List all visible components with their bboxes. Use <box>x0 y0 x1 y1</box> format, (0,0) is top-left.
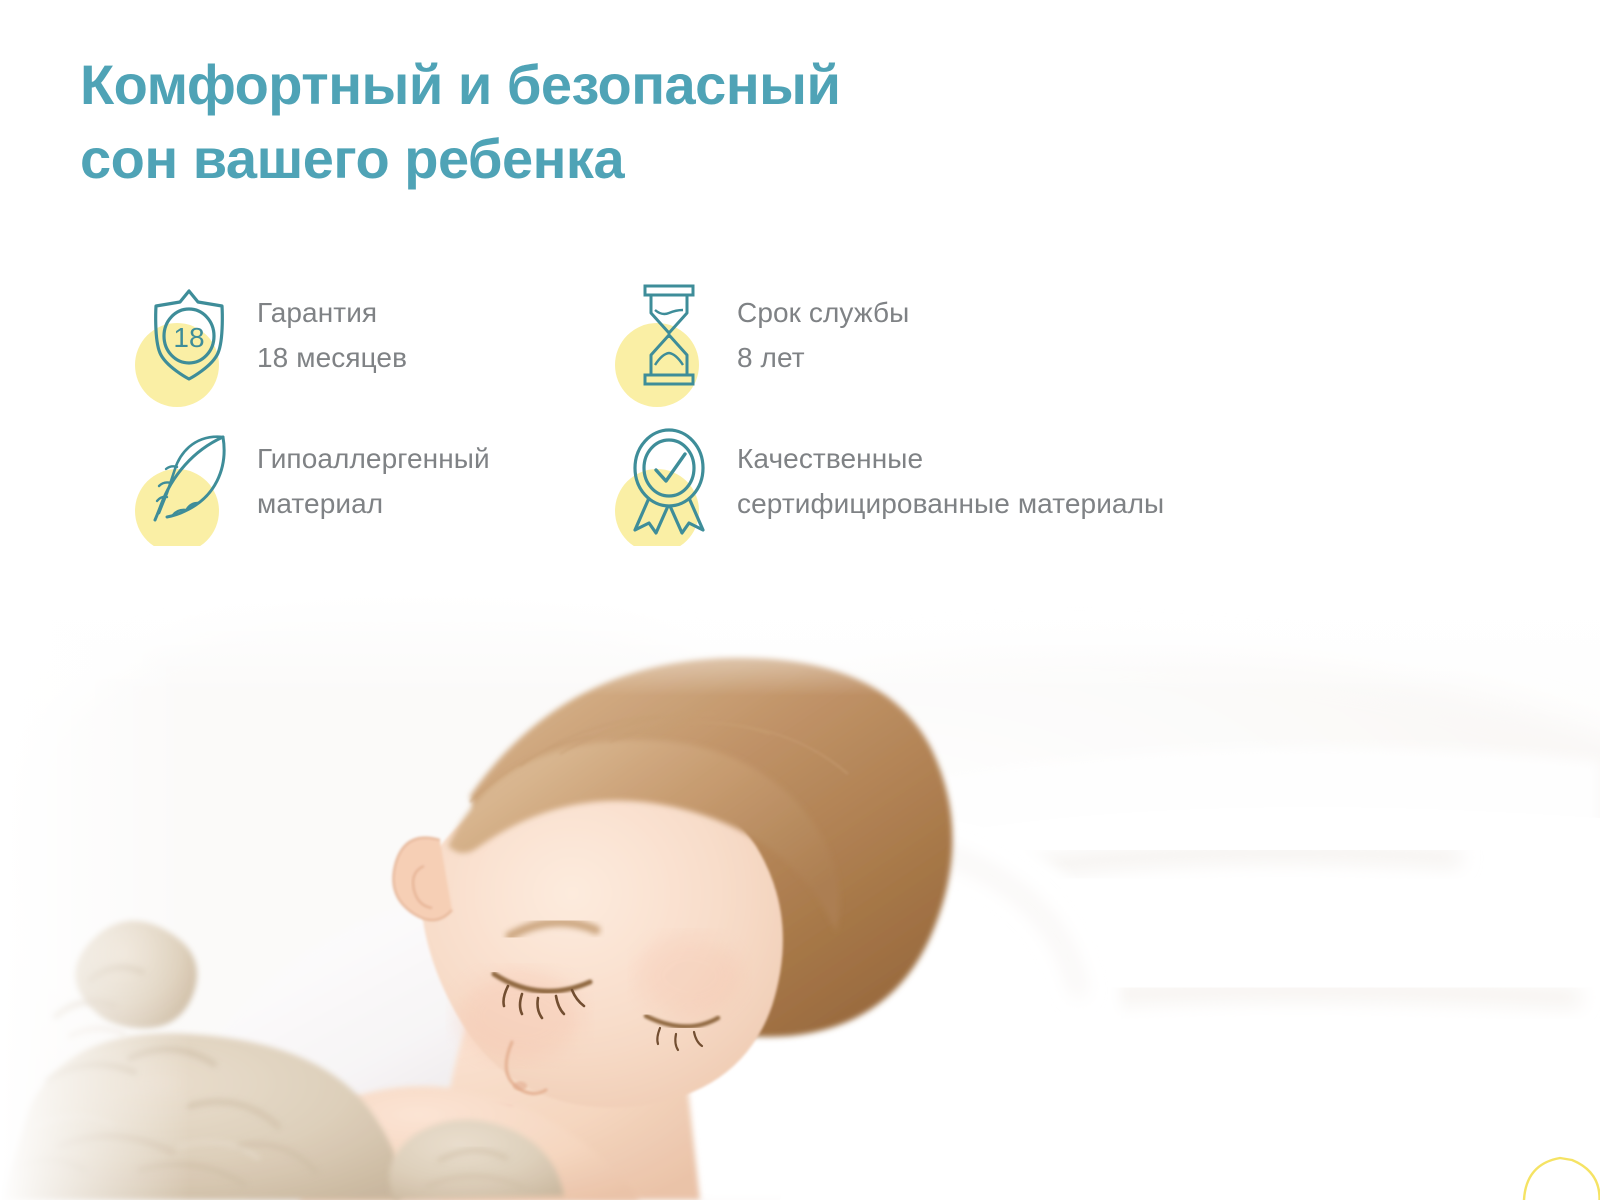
promo-banner: Комфортный и безопасный сон вашего ребен… <box>0 0 1600 1200</box>
feature-icon-container <box>615 275 723 395</box>
feature-item-warranty: 18 Гарантия 18 месяцев <box>135 262 615 408</box>
award-check-icon <box>623 426 715 536</box>
feature-grid: 18 Гарантия 18 месяцев Срок службы 8 л <box>135 262 1335 554</box>
hourglass-icon <box>631 283 707 387</box>
feather-icon <box>141 431 237 531</box>
feature-label-warranty: Гарантия 18 месяцев <box>257 290 407 381</box>
feature-item-hypoallergenic: Гипоаллергенный материал <box>135 408 615 554</box>
hero-photo <box>0 546 1600 1200</box>
feature-label-certified: Качественные сертифицированные материалы <box>737 436 1164 527</box>
shield-icon-label: 18 <box>173 322 204 353</box>
feature-label-lifespan: Срок службы 8 лет <box>737 290 909 381</box>
feature-label-hypoallergenic: Гипоаллергенный материал <box>257 436 490 527</box>
feature-icon-container <box>615 421 723 541</box>
feature-icon-container: 18 <box>135 275 243 395</box>
shield-badge-icon: 18 <box>150 287 228 383</box>
sleeping-child-photo <box>0 546 1600 1200</box>
page-title: Комфортный и безопасный сон вашего ребен… <box>80 48 1130 196</box>
feature-icon-container <box>135 421 243 541</box>
feature-item-lifespan: Срок службы 8 лет <box>615 262 1315 408</box>
feature-item-certified: Качественные сертифицированные материалы <box>615 408 1315 554</box>
